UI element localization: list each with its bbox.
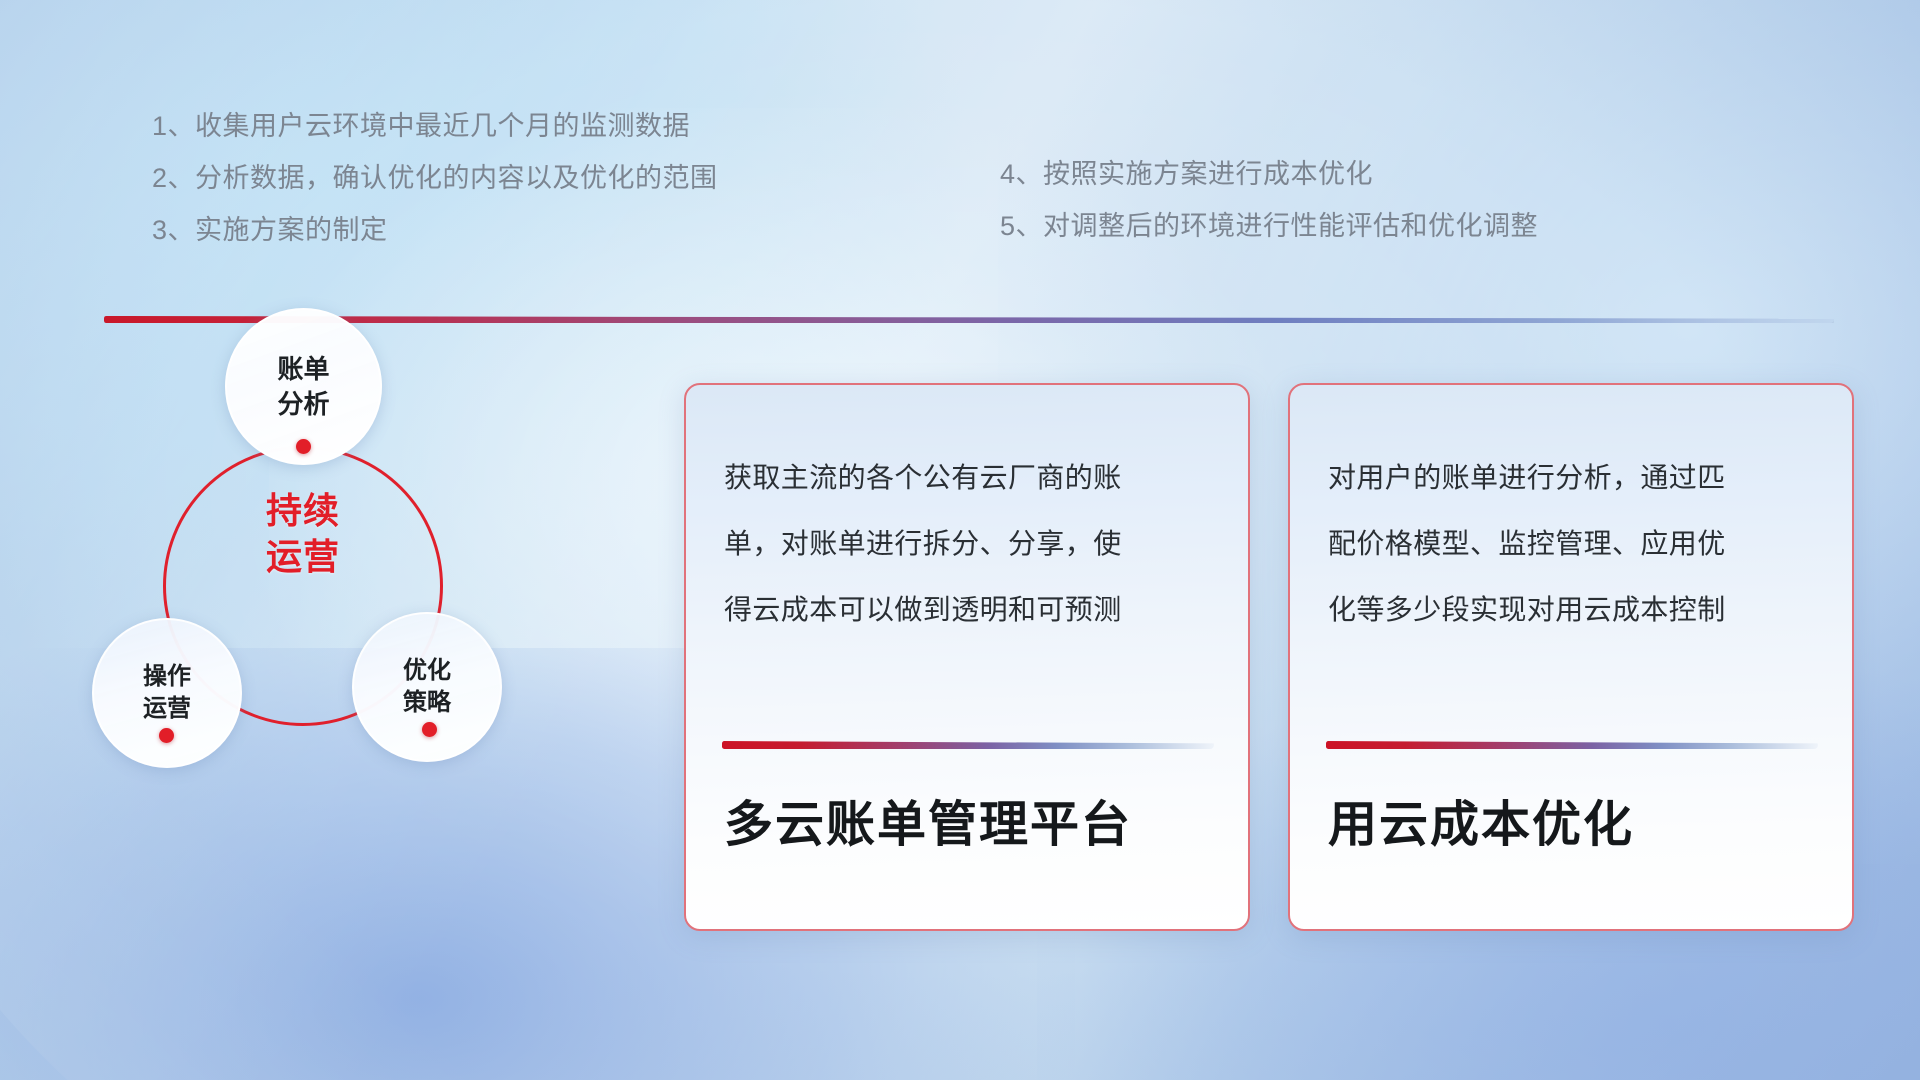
card-2-divider <box>1326 741 1818 749</box>
diagram-center-label: 持续 运营 <box>243 488 363 580</box>
bubble-optimization-strategy[interactable]: 优化 策略 <box>352 612 502 762</box>
steps-list: 1、收集用户云环境中最近几个月的监测数据 2、分析数据，确认优化的内容以及优化的… <box>0 96 1920 286</box>
card-multi-cloud-bill-platform[interactable]: 获取主流的各个公有云厂商的账 单，对账单进行拆分、分享，使 得云成本可以做到透明… <box>684 383 1250 931</box>
card-1-divider <box>722 741 1214 749</box>
card-1-body-line2: 单，对账单进行拆分、分享，使 <box>724 511 1214 577</box>
card-2-body-line2: 配价格模型、监控管理、应用优 <box>1328 511 1818 577</box>
card-1-title: 多云账单管理平台 <box>724 785 1218 856</box>
diagram-node-dot-top <box>296 439 311 454</box>
card-1-body-line3: 得云成本可以做到透明和可预测 <box>724 577 1214 643</box>
card-2-body: 对用户的账单进行分析，通过匹 配价格模型、监控管理、应用优 化等多少段实现对用云… <box>1328 445 1818 643</box>
card-2-title: 用云成本优化 <box>1328 785 1822 856</box>
bubble-optimization-strategy-line2: 策略 <box>403 687 451 719</box>
step-item-3: 3、实施方案的制定 <box>152 204 718 256</box>
bubble-operation-ops[interactable]: 操作 运营 <box>92 618 242 768</box>
bubble-bill-analysis-line2: 分析 <box>277 387 329 421</box>
diagram-center-label-line2: 运营 <box>266 536 340 577</box>
step-item-5: 5、对调整后的环境进行性能评估和优化调整 <box>1000 200 1538 252</box>
bubble-optimization-strategy-line1: 优化 <box>403 655 451 687</box>
diagram-center-label-line1: 持续 <box>266 490 340 531</box>
bubble-operation-ops-line2: 运营 <box>143 693 191 725</box>
step-item-4: 4、按照实施方案进行成本优化 <box>1000 148 1538 200</box>
bubble-bill-analysis-line1: 账单 <box>277 352 329 386</box>
diagram-node-dot-left <box>159 728 174 743</box>
slide-canvas: 1、收集用户云环境中最近几个月的监测数据 2、分析数据，确认优化的内容以及优化的… <box>0 0 1920 1080</box>
card-1-body: 获取主流的各个公有云厂商的账 单，对账单进行拆分、分享，使 得云成本可以做到透明… <box>724 445 1214 643</box>
bubble-operation-ops-line1: 操作 <box>143 661 191 693</box>
card-2-body-line1: 对用户的账单进行分析，通过匹 <box>1328 445 1818 511</box>
card-cloud-cost-optimization[interactable]: 对用户的账单进行分析，通过匹 配价格模型、监控管理、应用优 化等多少段实现对用云… <box>1288 383 1854 931</box>
steps-right-column: 4、按照实施方案进行成本优化 5、对调整后的环境进行性能评估和优化调整 <box>1000 148 1538 252</box>
cycle-diagram: 账单 分析 操作 运营 优化 策略 持续 运营 <box>80 300 560 820</box>
step-item-2: 2、分析数据，确认优化的内容以及优化的范围 <box>152 152 718 204</box>
card-2-body-line3: 化等多少段实现对用云成本控制 <box>1328 577 1818 643</box>
steps-left-column: 1、收集用户云环境中最近几个月的监测数据 2、分析数据，确认优化的内容以及优化的… <box>152 100 718 256</box>
card-1-body-line1: 获取主流的各个公有云厂商的账 <box>724 445 1214 511</box>
step-item-1: 1、收集用户云环境中最近几个月的监测数据 <box>152 100 718 152</box>
diagram-node-dot-right <box>422 722 437 737</box>
